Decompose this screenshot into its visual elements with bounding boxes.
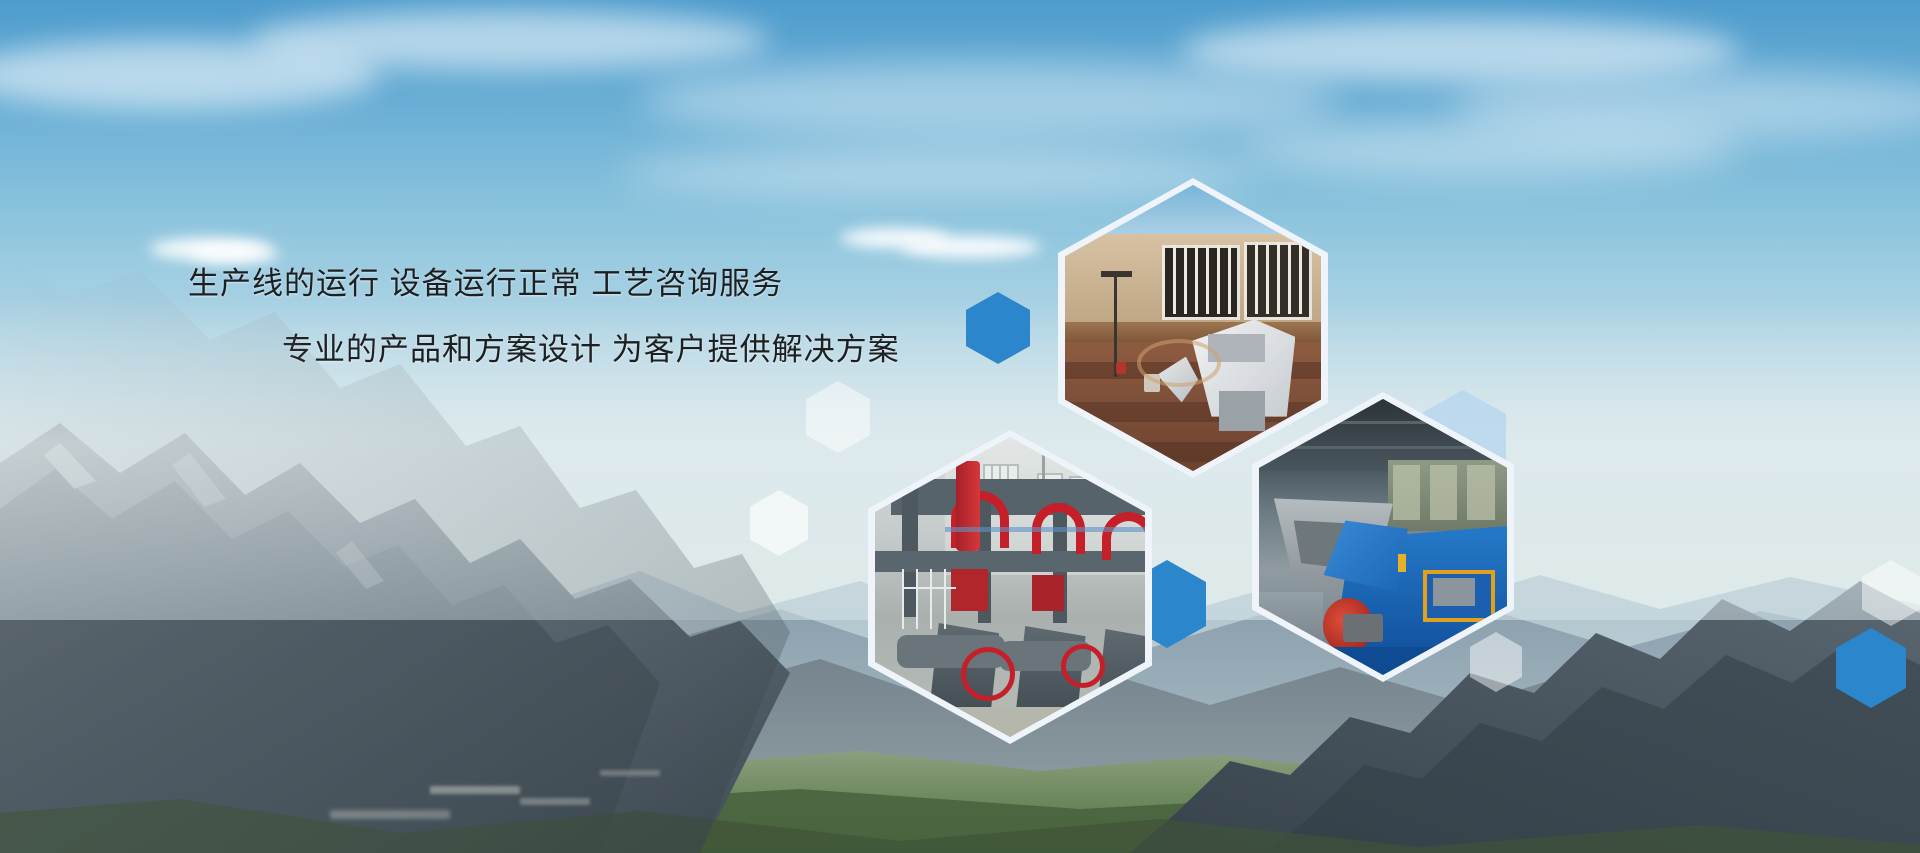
photo-hexagon-right-image	[1259, 399, 1507, 675]
scene-blue-crusher	[1259, 399, 1507, 675]
hero-banner: 生产线的运行 设备运行正常 工艺咨询服务 专业的产品和方案设计 为客户提供解决方…	[0, 0, 1920, 853]
photo-hexagon-top-image	[1065, 185, 1321, 471]
scene-white-equipment	[1065, 185, 1321, 471]
foreground-rock-overlay	[0, 250, 820, 853]
